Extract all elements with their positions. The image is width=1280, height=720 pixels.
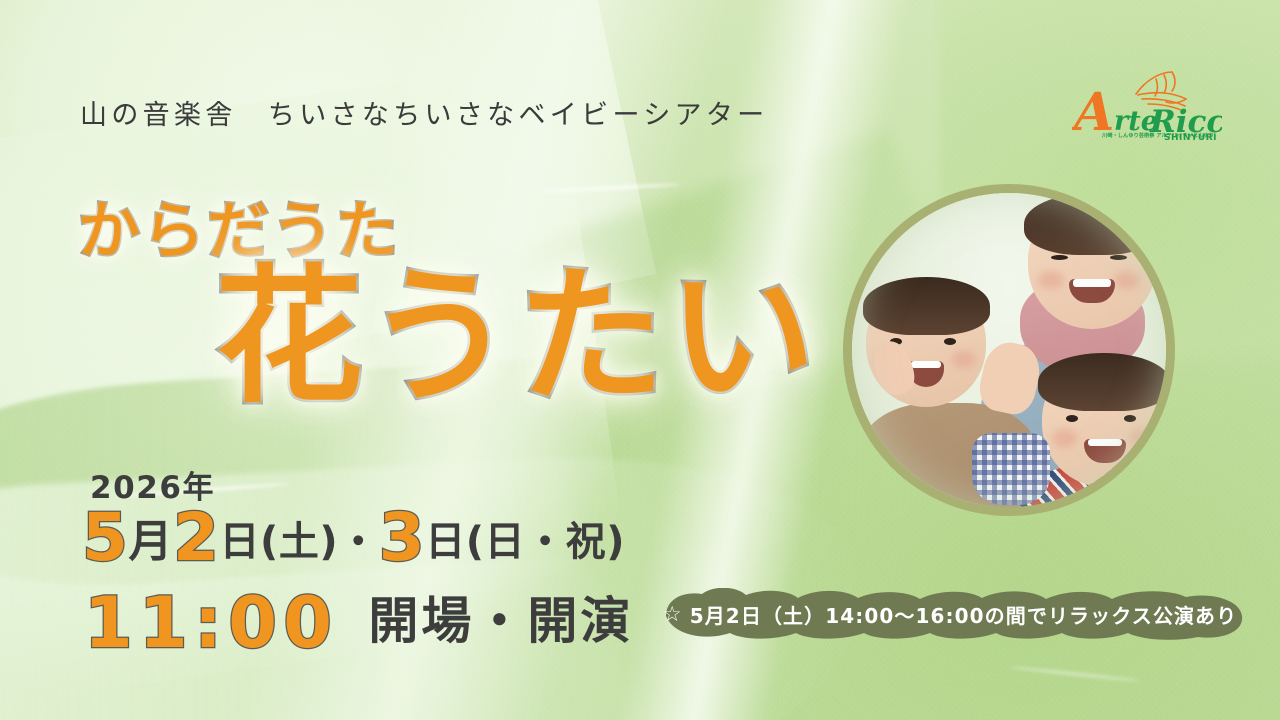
- star-icon: ☆: [663, 602, 683, 626]
- banner-label: 5月2日（土）14:00〜16:00の間でリラックス公演あり: [690, 600, 1238, 629]
- tagline: 山の音楽舎 ちいさなちいさなベイビーシアター: [80, 93, 769, 132]
- relax-performance-banner: ☆ 5月2日（土）14:00〜16:00の間でリラックス公演あり: [650, 588, 1250, 640]
- arte-ricca-logo[interactable]: A rte Ricca SHINYURI 川崎・しんゆり芸術祭 アルテリッチャし…: [1072, 58, 1222, 148]
- poster-canvas: 山の音楽舎 ちいさなちいさなベイビーシアター からだうた 花うたい 2026年 …: [0, 0, 1280, 720]
- time-value: 11:00: [84, 582, 338, 664]
- date-month-number: 5: [82, 499, 128, 576]
- date-day1-kanji: 日: [219, 519, 260, 565]
- brush-streak-3: [1010, 665, 1140, 683]
- time-label: 開場・開演: [368, 592, 633, 650]
- time-line: 11:00開場・開演: [84, 588, 633, 658]
- logo-subtitle: 川崎・しんゆり芸術祭 アルテリッチャしんゆり: [1098, 132, 1218, 139]
- date-day2-weekday: (日・祝): [466, 519, 625, 565]
- date-month-kanji: 月: [128, 516, 173, 567]
- date-day1-number: 2: [173, 499, 219, 576]
- date-separator: ・: [338, 519, 379, 565]
- date-day2-number: 3: [379, 499, 425, 576]
- main-title-hanautai: 花うたい: [215, 263, 819, 411]
- babies-photo: [852, 193, 1166, 507]
- photo-circle-frame: [843, 184, 1175, 516]
- date-line: 5月2日(土)・3日(日・祝): [82, 505, 625, 571]
- date-day1-weekday: (土): [260, 519, 338, 565]
- banner-text-row: ☆ 5月2日（土）14:00〜16:00の間でリラックス公演あり: [650, 588, 1250, 640]
- brush-streak-2: [540, 182, 680, 193]
- date-day2-kanji: 日: [425, 519, 466, 565]
